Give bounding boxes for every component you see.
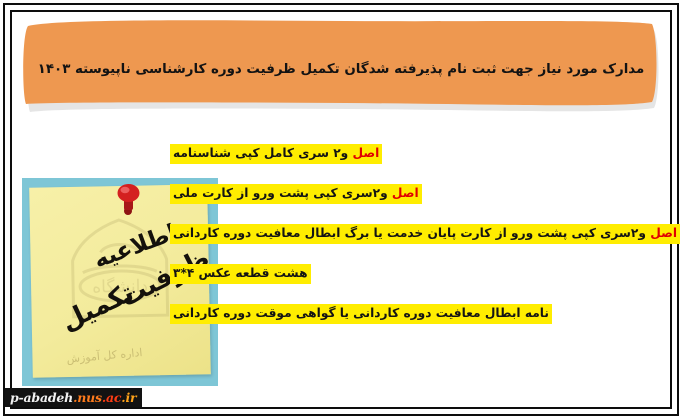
list-item: هشت قطعه عکس ۴*۳ (170, 264, 638, 284)
requirement-1-rest: و۲ سری کامل کپی شناسنامه (173, 146, 352, 160)
requirement-1: اصل و۲ سری کامل کپی شناسنامه (170, 144, 382, 164)
note-word-takmil: تکمیل (57, 278, 139, 337)
site-watermark: p-abadeh.nus.ac.ir (5, 388, 142, 407)
list-item: اصل و۲سری کپی پشت ورو از کارت ملی (170, 184, 638, 204)
header-banner: مدارک مورد نیاز جهت ثبت نام پذیرفته شدگا… (18, 16, 664, 114)
requirement-4-rest: هشت قطعه عکس ۴*۳ (173, 266, 308, 280)
watermark-domain-ac: .ac (102, 390, 121, 405)
announcement-page: مدارک مورد نیاز جهت ثبت نام پذیرفته شدگا… (0, 0, 682, 419)
requirement-2-accent: اصل (392, 186, 419, 200)
list-item: نامه ابطال معافیت دوره کاردانی یا گواهی … (170, 304, 638, 324)
requirement-2: اصل و۲سری کپی پشت ورو از کارت ملی (170, 184, 422, 204)
pushpin-icon (114, 182, 144, 216)
requirement-3: اصل و۲سری کپی پشت ورو از کارت پایان خدمت… (170, 224, 680, 244)
requirement-5-rest: نامه ابطال معافیت دوره کاردانی یا گواهی … (173, 306, 549, 320)
requirement-3-rest: و۲سری کپی پشت ورو از کارت پایان خدمت یا … (173, 226, 650, 240)
watermark-domain-ir: .ir (121, 390, 136, 405)
requirement-2-rest: و۲سری کپی پشت ورو از کارت ملی (173, 186, 392, 200)
requirement-3-accent: اصل (650, 226, 677, 240)
page-title: مدارک مورد نیاز جهت ثبت نام پذیرفته شدگا… (18, 62, 664, 78)
requirement-5: نامه ابطال معافیت دوره کاردانی یا گواهی … (170, 304, 552, 324)
requirement-4: هشت قطعه عکس ۴*۳ (170, 264, 311, 284)
requirement-1-accent: اصل (352, 146, 379, 160)
watermark-domain-name: p-abadeh (10, 390, 73, 405)
list-item: اصل و۲ سری کامل کپی شناسنامه (170, 144, 638, 164)
list-item: اصل و۲سری کپی پشت ورو از کارت پایان خدمت… (170, 224, 638, 244)
watermark-domain-nus: .nus (73, 390, 102, 405)
requirements-list: اصل و۲ سری کامل کپی شناسنامه اصل و۲سری ک… (170, 144, 638, 324)
